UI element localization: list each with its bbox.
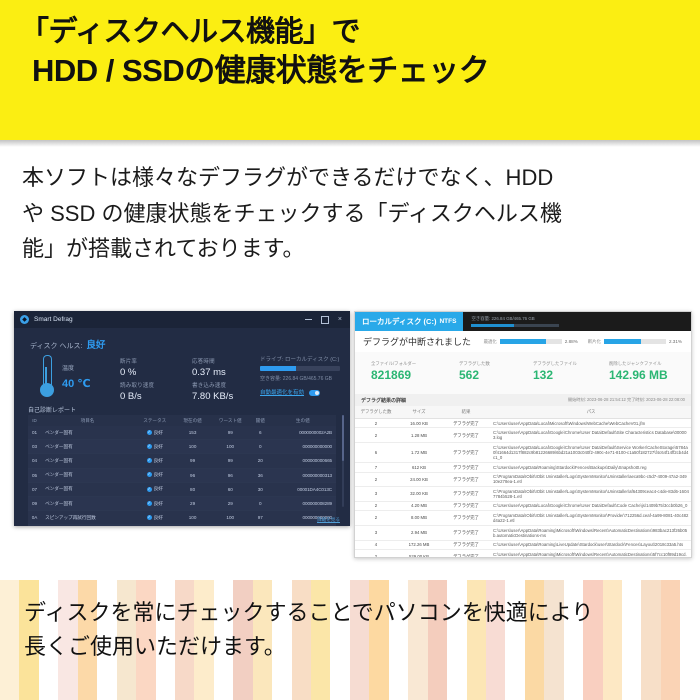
smart-status-cell: ✓良好 <box>134 496 176 510</box>
smart-status-cell: ✓良好 <box>134 426 176 440</box>
smart-cell: ベンダー固有 <box>41 426 134 440</box>
smart-cell: 000000000949 <box>270 525 336 526</box>
meter-optimized: 最適化 2.88% <box>484 339 578 345</box>
smart-cell: 99 <box>210 454 251 468</box>
file-cell: 3 <box>355 526 397 541</box>
kpi-label: デフラグした数 <box>459 361 490 367</box>
file-col-header[interactable]: パス <box>491 406 691 419</box>
table-row[interactable]: 61.72 MBデフラグ完了C:\Users\user\AppData\Loca… <box>355 443 691 463</box>
table-row[interactable]: 4172.26 MBデフラグ完了C:\Users\user\AppData\Ro… <box>355 540 691 549</box>
file-cell: 32.00 KB <box>397 487 441 502</box>
drive-free-label: 空き容量: 226.84 GB/465.76 GB <box>260 375 342 382</box>
table-row[interactable]: 01ベンダー固有✓良好1539960000000002A2B <box>28 426 336 440</box>
file-cell: デフラグ完了 <box>441 550 491 558</box>
footer-banner: ディスクを常にチェックすることでパソコンを快適により 長くご使用いただけます。 <box>0 580 700 700</box>
kpi-label: デフラグしたファイル <box>533 361 577 367</box>
thermometer-icon <box>38 355 54 397</box>
check-circle-icon: ✓ <box>147 458 152 463</box>
smart-cell: 00001DA4C013C <box>270 482 336 496</box>
stat-fragmentation: 断片率 0 % <box>120 357 137 378</box>
file-cell: デフラグ完了 <box>441 540 491 549</box>
defrag-window-topbar: ローカルディスク (C:) NTFS 空き容量: 226.84 GB/465.7… <box>355 312 691 331</box>
file-cell: 1.72 MB <box>397 443 441 463</box>
smart-cell: 100 <box>176 440 210 454</box>
smart-cell: スピンアップ再試行回数 <box>41 511 134 525</box>
check-circle-icon: ✓ <box>147 501 152 506</box>
smart-cell: 36 <box>251 468 270 482</box>
drive-usage-bar <box>260 366 340 371</box>
meter-label: 最適化 <box>484 339 497 345</box>
stat-value: 0 % <box>120 367 137 378</box>
app-logo-icon: ◆ <box>20 315 29 324</box>
smart-cell: ベンダー固有 <box>41 454 134 468</box>
table-row[interactable]: 28.00 MBデフラグ完了C:\ProgramData\IObit\IObit… <box>355 511 691 526</box>
smart-cell: 000000000665 <box>270 454 336 468</box>
file-cell: 2 <box>355 501 397 510</box>
smart-cell: 0 <box>251 440 270 454</box>
smart-cell: 03 <box>28 440 41 454</box>
kpi-total-files: 全ファイル/フォルダー 821869 <box>371 361 416 382</box>
file-cell: デフラグ完了 <box>441 526 491 541</box>
table-row[interactable]: 7612 KBデフラグ完了C:\Users\user\AppData\Roami… <box>355 463 691 472</box>
kpi-value: 562 <box>459 368 490 382</box>
file-cell: 2 <box>355 428 397 443</box>
tab-filesystem-label: NTFS <box>439 318 456 325</box>
smart-cell: 96 <box>210 468 251 482</box>
window-controls: × <box>305 316 342 324</box>
drive-summary: ドライブ: ローカルディスク (C:) 空き容量: 226.84 GB/465.… <box>260 355 342 396</box>
smart-table-scrollbar[interactable] <box>342 415 345 507</box>
file-cell: 612 KB <box>397 463 441 472</box>
stat-read-speed: 読み取り速度 0 B/s <box>120 381 154 402</box>
defrag-meters: 最適化 2.88% 断片化 2.31% <box>484 339 682 345</box>
smart-col-header: 生の値 <box>270 415 336 426</box>
table-row[interactable]: 216.00 KBデフラグ完了C:\Users\user\AppData\Loc… <box>355 419 691 428</box>
window-titlebar: ◆ Smart Defrag × <box>14 311 350 328</box>
smart-col-header: 閾値 <box>251 415 270 426</box>
footer-line-1: ディスクを常にチェックすることでパソコンを快適により <box>24 596 684 630</box>
smart-col-header: 項目名 <box>41 415 134 426</box>
check-circle-icon: ✓ <box>147 472 152 477</box>
file-cell: デフラグ完了 <box>441 419 491 428</box>
file-cell: 529.00 KB <box>397 550 441 558</box>
smart-report-table: ID項目名ステータス現在の値ワースト値閾値生の値 01ベンダー固有✓良好1539… <box>28 415 336 526</box>
kpi-label: 削除したジャンクファイル <box>609 361 668 367</box>
file-cell: 7 <box>355 463 397 472</box>
file-cell: C:\Users\user\AppData\Local\Microsoft\Wi… <box>491 419 691 428</box>
smart-status-cell: ✓良好 <box>134 482 176 496</box>
defrag-status-text: デフラグが中断されました <box>363 335 471 348</box>
table-row[interactable]: 21.28 MBデフラグ完了C:\Users\user\AppData\Loca… <box>355 428 691 443</box>
lead-line-2: や SSD の健康状態をチェックする「ディスクヘルス機 <box>22 196 682 232</box>
kpi-defragged-files: デフラグしたファイル 132 <box>533 361 577 382</box>
file-cell: C:\Users\user\AppData\Local\Google\Chrom… <box>491 428 691 443</box>
smart-cell: 09 <box>28 496 41 510</box>
file-cell: デフラグ完了 <box>441 487 491 502</box>
meter-bar <box>500 339 562 344</box>
stat-value: 7.80 KB/s <box>192 391 233 402</box>
file-cell: デフラグ完了 <box>441 472 491 487</box>
file-cell: デフラグ完了 <box>441 501 491 510</box>
file-cell: デフラグ完了 <box>441 443 491 463</box>
tab-local-disk-c[interactable]: ローカルディスク (C:) NTFS <box>355 312 463 331</box>
stat-value: 0.37 ms <box>192 367 226 378</box>
smart-cell: 000000000313 <box>270 468 336 482</box>
table-row[interactable]: 04ベンダー固有✓良好999920000000000665 <box>28 454 336 468</box>
smart-table-header-row: ID項目名ステータス現在の値ワースト値閾値生の値 <box>28 415 336 426</box>
disk-health-value: 良好 <box>86 340 105 351</box>
smart-col-header: ワースト値 <box>210 415 251 426</box>
auto-optimize-toggle[interactable] <box>309 390 320 396</box>
auto-optimize-link[interactable]: 自動最適化を有効 <box>260 388 304 396</box>
stripe <box>0 580 19 700</box>
disk-health-status: ディスク ヘルス:良好 <box>30 337 105 351</box>
close-icon[interactable]: × <box>338 316 342 323</box>
detail-timestamp: 開始時刻: 2023-06-28 21:54:12 完了時刻: 2023-06-… <box>568 397 685 403</box>
kpi-label: 全ファイル/フォルダー <box>371 361 416 367</box>
tab-label: ローカルディスク (C:) <box>362 316 436 327</box>
smart-cell: 100 <box>176 511 210 525</box>
file-cell: 8.00 MB <box>397 511 441 526</box>
check-circle-icon: ✓ <box>147 444 152 449</box>
smart-defrag-window: ◆ Smart Defrag × ディスク ヘルス:良好 温度 40 ℃ 断片率… <box>14 311 350 526</box>
defrag-kpi-row: 全ファイル/フォルダー 821869 デフラグした数 562 デフラグしたファイ… <box>355 352 691 395</box>
file-cell: 16.00 KB <box>397 419 441 428</box>
smart-cell: 99 <box>210 525 251 526</box>
maximize-icon[interactable] <box>321 316 329 324</box>
smart-status-text: 良好 <box>154 458 163 463</box>
smart-status-cell: ✓良好 <box>134 468 176 482</box>
smart-col-header: ID <box>28 415 41 426</box>
smart-cell: 20 <box>251 454 270 468</box>
file-cell: C:\ProgramData\IObit\IObit Uninstaller\L… <box>491 511 691 526</box>
file-cell: 4.20 MB <box>397 501 441 510</box>
stat-label: 応答時間 <box>192 357 226 365</box>
meter-fragmented: 断片化 2.31% <box>588 339 682 345</box>
file-cell: C:\Users\user\AppData\Roaming\LiveUpdate… <box>491 540 691 549</box>
meter-value: 2.88% <box>565 339 578 344</box>
topbar-capacity-info: 空き容量: 226.84 GB/465.76 GB <box>471 316 559 327</box>
promo-page: 「ディスクヘルス機能」で HDD / SSDの健康状態をチェック 本ソフトは様々… <box>0 0 700 700</box>
smart-status-cell: ✓良好 <box>134 440 176 454</box>
file-cell: 2 <box>355 511 397 526</box>
stat-label: 読み取り速度 <box>120 381 154 389</box>
table-row[interactable]: 05ベンダー固有✓良好969636000000000313 <box>28 468 336 482</box>
file-col-header[interactable]: デフラグした数 <box>355 406 397 419</box>
smart-status-text: 良好 <box>154 444 163 449</box>
smart-cell: 000000000000 <box>270 440 336 454</box>
stat-write-speed: 書き込み速度 7.80 KB/s <box>192 381 233 402</box>
smart-cell: ベンダー固有 <box>41 496 134 510</box>
detail-title: デフラグ結果の詳細 <box>361 397 406 404</box>
smart-status-cell: ✓良好 <box>134 511 176 525</box>
check-circle-icon: ✓ <box>147 487 152 492</box>
smart-status-cell: ✓良好 <box>134 525 176 526</box>
file-cell: 3 <box>355 487 397 502</box>
kpi-defragged-count: デフラグした数 562 <box>459 361 490 382</box>
smart-report-title: 自己診断レポート <box>28 405 76 414</box>
smart-cell: 99 <box>176 525 210 526</box>
smart-cell: 29 <box>176 496 210 510</box>
window-title: Smart Defrag <box>34 316 73 323</box>
file-col-header[interactable]: サイズ <box>397 406 441 419</box>
capacity-label: 空き容量: 226.84 GB/465.76 GB <box>471 316 559 322</box>
smart-cell: ベンダー固有 <box>41 482 134 496</box>
meter-label: 断片化 <box>588 339 601 345</box>
lead-line-1: 本ソフトは様々なデフラグができるだけでなく、HDD <box>22 160 682 196</box>
kpi-value: 132 <box>533 368 577 382</box>
smart-cell: 29 <box>210 496 251 510</box>
file-cell: C:\Users\user\AppData\Local\Google\Chrom… <box>491 501 691 510</box>
file-cell: 2 <box>355 419 397 428</box>
table-row[interactable]: 332.00 KBデフラグ完了C:\ProgramData\IObit\IObi… <box>355 487 691 502</box>
file-cell: C:\Users\user\AppData\Roaming\Microsoft\… <box>491 550 691 558</box>
file-cell: C:\ProgramData\IObit\IObit Uninstaller\L… <box>491 487 691 502</box>
kpi-value: 142.96 MB <box>609 368 668 382</box>
smart-cell: 153 <box>176 426 210 440</box>
smart-status-text: 良好 <box>154 472 163 477</box>
file-cell: 2 <box>355 550 397 558</box>
stat-value: 0 B/s <box>120 391 154 402</box>
disk-health-label: ディスク ヘルス: <box>30 343 82 350</box>
table-row[interactable]: 24.20 MBデフラグ完了C:\Users\user\AppData\Loca… <box>355 501 691 510</box>
smart-cell: 97 <box>251 511 270 525</box>
smart-status-cell: ✓良好 <box>134 454 176 468</box>
smart-cell: 01 <box>28 426 41 440</box>
file-cell: デフラグ完了 <box>441 511 491 526</box>
drive-name-label: ドライブ: ローカルディスク (C:) <box>260 355 342 363</box>
defrag-file-table: デフラグした数サイズ結果パス 216.00 KBデフラグ完了C:\Users\u… <box>355 406 691 558</box>
table-row[interactable]: 03ベンダー固有✓良好1001000000000000000 <box>28 440 336 454</box>
check-circle-icon: ✓ <box>147 430 152 435</box>
smart-cell: 0A <box>28 511 41 525</box>
defrag-result-window: ローカルディスク (C:) NTFS 空き容量: 226.84 GB/465.7… <box>354 311 692 558</box>
lead-paragraph: 本ソフトは様々なデフラグができるだけでなく、HDD や SSD の健康状態をチェ… <box>22 160 682 267</box>
stat-response-time: 応答時間 0.37 ms <box>192 357 226 378</box>
smart-cell: 60 <box>210 482 251 496</box>
footer-line-2: 長くご使用いただけます。 <box>24 630 684 664</box>
smart-cell: 99 <box>176 454 210 468</box>
file-cell: C:\Users\user\AppData\Roaming\Microsoft\… <box>491 526 691 541</box>
meter-value: 2.31% <box>669 339 682 344</box>
check-circle-icon: ✓ <box>147 515 152 520</box>
kpi-junk-removed: 削除したジャンクファイル 142.96 MB <box>609 361 668 382</box>
smart-cell: 100 <box>210 440 251 454</box>
smart-status-text: 良好 <box>154 430 163 435</box>
temperature-value: 40 ℃ <box>62 377 91 390</box>
file-cell: C:\Users\user\AppData\Local\Google\Chrom… <box>491 443 691 463</box>
smart-cell: 30 <box>251 482 270 496</box>
lead-line-3: 能」が搭載されております。 <box>22 231 682 267</box>
smart-cell: 07 <box>28 482 41 496</box>
smart-cell: 0C <box>28 525 41 526</box>
smart-cell: 0000000002A2B <box>270 426 336 440</box>
smart-detail-link[interactable]: 詳細を見る <box>317 517 340 523</box>
file-cell: 1.28 MB <box>397 428 441 443</box>
hero-title-line1: 「ディスクヘルス機能」で <box>20 16 690 48</box>
smart-cell: 80 <box>176 482 210 496</box>
smart-cell: 20 <box>251 525 270 526</box>
smart-cell: 6 <box>251 426 270 440</box>
file-cell: 2.94 MB <box>397 526 441 541</box>
stat-label: 断片率 <box>120 357 137 365</box>
smart-cell: 96 <box>176 468 210 482</box>
smart-col-header: 現在の値 <box>176 415 210 426</box>
footer-text-block: ディスクを常にチェックすることでパソコンを快適により 長くご使用いただけます。 <box>24 596 684 664</box>
table-row[interactable]: 224.00 KBデフラグ完了C:\ProgramData\IObit\IObi… <box>355 472 691 487</box>
table-row[interactable]: 0Aスピンアップ再試行回数✓良好10010097000000000000 <box>28 511 336 525</box>
smart-cell: ベンダー固有 <box>41 468 134 482</box>
table-row[interactable]: 07ベンダー固有✓良好80603000001DA4C013C <box>28 482 336 496</box>
file-table-header-row: デフラグした数サイズ結果パス <box>355 406 691 419</box>
hero-text-block: 「ディスクヘルス機能」で HDD / SSDの健康状態をチェック <box>20 16 690 89</box>
smart-cell: 05 <box>28 468 41 482</box>
smart-cell: 000000008289 <box>270 496 336 510</box>
smart-cell: 99 <box>210 426 251 440</box>
hero-title-line2: HDD / SSDの健康状態をチェック <box>20 54 690 89</box>
smart-status-text: 良好 <box>154 515 163 520</box>
table-row[interactable]: 0C電源投入回数✓良好999920000000000949 <box>28 525 336 526</box>
stat-label: 書き込み速度 <box>192 381 233 389</box>
smart-cell: 0 <box>251 496 270 510</box>
kpi-value: 821869 <box>371 368 416 382</box>
file-cell: 4 <box>355 540 397 549</box>
file-col-header[interactable]: 結果 <box>441 406 491 419</box>
file-cell: デフラグ完了 <box>441 428 491 443</box>
smart-status-text: 良好 <box>154 501 163 506</box>
file-cell: C:\ProgramData\IObit\IObit Uninstaller\L… <box>491 472 691 487</box>
capacity-bar <box>471 324 559 327</box>
file-cell: 2 <box>355 472 397 487</box>
file-cell: 6 <box>355 443 397 463</box>
smart-cell: 100 <box>210 511 251 525</box>
table-row[interactable]: 2529.00 KBデフラグ完了C:\Users\user\AppData\Ro… <box>355 550 691 558</box>
file-cell: 172.26 MB <box>397 540 441 549</box>
file-cell: C:\Users\user\AppData\Roaming\Stardock\F… <box>491 463 691 472</box>
table-row[interactable]: 32.94 MBデフラグ完了C:\Users\user\AppData\Roam… <box>355 526 691 541</box>
smart-cell: ベンダー固有 <box>41 440 134 454</box>
file-cell: 24.00 KB <box>397 472 441 487</box>
temperature-label: 温度 <box>62 363 74 372</box>
defrag-status-bar: デフラグが中断されました 最適化 2.88% 断片化 2.31% <box>355 331 691 353</box>
smart-cell: 電源投入回数 <box>41 525 134 526</box>
minimize-icon[interactable] <box>305 319 312 320</box>
meter-bar <box>604 339 666 344</box>
smart-status-text: 良好 <box>154 486 163 491</box>
smart-col-header: ステータス <box>134 415 176 426</box>
file-cell: デフラグ完了 <box>441 463 491 472</box>
hero-banner: 「ディスクヘルス機能」で HDD / SSDの健康状態をチェック <box>0 0 700 140</box>
smart-cell: 04 <box>28 454 41 468</box>
hero-shadow-divider <box>0 140 700 147</box>
table-row[interactable]: 09ベンダー固有✓良好29290000000008289 <box>28 496 336 510</box>
